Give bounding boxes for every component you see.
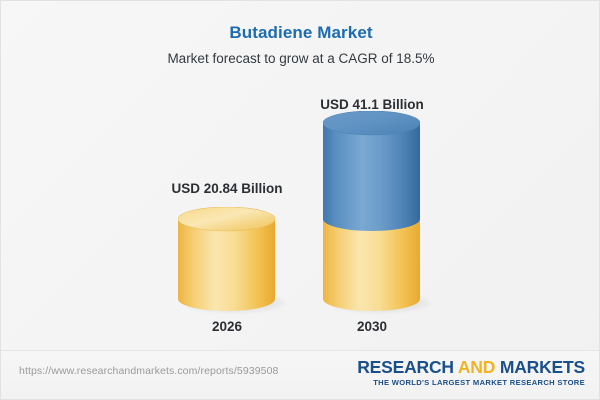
- footer: https://www.researchandmarkets.com/repor…: [1, 350, 600, 399]
- logo-markets-text: MARKETS: [500, 357, 585, 377]
- category-label-2030: 2030: [272, 319, 472, 334]
- bar-2026[interactable]: [178, 207, 275, 311]
- report-url-link[interactable]: https://www.researchandmarkets.com/repor…: [19, 365, 278, 377]
- value-label-2030: USD 41.1 Billion: [272, 97, 472, 112]
- bar-2030-shape: [323, 111, 420, 311]
- bar-2026-shape: [178, 207, 275, 311]
- logo-tagline: THE WORLD'S LARGEST MARKET RESEARCH STOR…: [357, 377, 585, 388]
- chart-figure: Butadiene Market Market forecast to grow…: [0, 0, 600, 400]
- logo-and-text: AND: [458, 357, 495, 377]
- brand-logo[interactable]: RESEARCH AND MARKETS THE WORLD'S LARGEST…: [357, 357, 585, 388]
- bar-2030[interactable]: [323, 111, 420, 311]
- value-label-2026: USD 20.84 Billion: [127, 181, 327, 196]
- plot-area: USD 20.84 Billion: [1, 1, 600, 346]
- logo-wordmark: RESEARCH AND MARKETS: [357, 357, 585, 377]
- logo-research-text: RESEARCH: [357, 357, 454, 377]
